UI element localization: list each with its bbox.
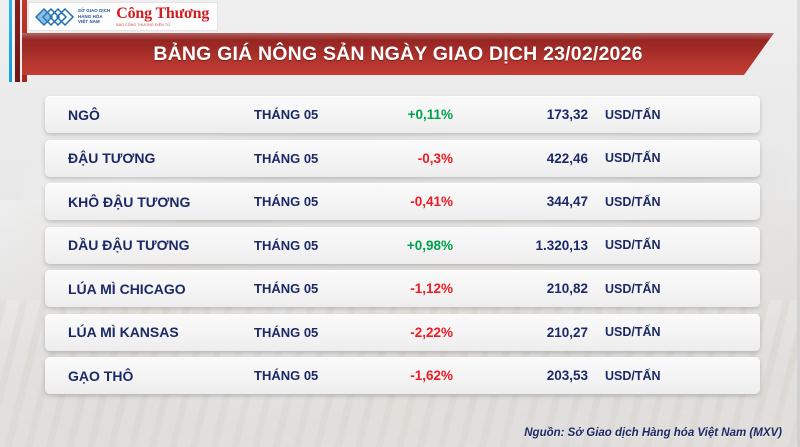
table-row[interactable]: LÚA MÌ KANSASTHÁNG 05-2,22%210,27USD/TẤN (45, 314, 760, 351)
table-row[interactable]: NGÔTHÁNG 05+0,11%173,32USD/TẤN (45, 96, 760, 133)
table-row[interactable]: KHÔ ĐẬU TƯƠNGTHÁNG 05-0,41%344,47USD/TẤN (45, 183, 760, 220)
price-unit: USD/TẤN (605, 238, 661, 252)
commodity-name: KHÔ ĐẬU TƯƠNG (68, 194, 190, 210)
page-title: BẢNG GIÁ NÔNG SẢN NGÀY GIAO DỊCH 23/02/2… (22, 33, 774, 75)
change-percent: +0,98% (345, 238, 453, 253)
price-value: 1.320,13 (475, 238, 588, 253)
contract-month: THÁNG 05 (254, 238, 318, 253)
source-note: Nguồn: Sở Giao dịch Hàng hóa Việt Nam (M… (524, 427, 782, 439)
logo-bar: SỞ GIAO DỊCH HÀNG HÓA VIỆT NAM Công Thươ… (28, 2, 218, 31)
commodity-name: ĐẬU TƯƠNG (68, 150, 155, 166)
cong-thuong-wordmark: Công Thương (116, 6, 209, 22)
contract-month: THÁNG 05 (254, 194, 318, 209)
mxv-logo-text: SỞ GIAO DỊCH HÀNG HÓA VIỆT NAM (78, 8, 110, 25)
commodity-name: DẦU ĐẬU TƯƠNG (68, 237, 190, 253)
price-unit: USD/TẤN (605, 195, 661, 209)
price-value: 344,47 (475, 194, 588, 209)
change-percent: -0,3% (345, 151, 453, 166)
price-value: 210,27 (475, 325, 588, 340)
commodity-name: GẠO THÔ (68, 368, 133, 384)
table-row[interactable]: GẠO THÔTHÁNG 05-1,62%203,53USD/TẤN (45, 357, 760, 394)
commodity-name: NGÔ (68, 107, 100, 123)
price-value: 422,46 (475, 151, 588, 166)
change-percent: -2,22% (345, 325, 453, 340)
contract-month: THÁNG 05 (254, 325, 318, 340)
price-unit: USD/TẤN (605, 282, 661, 296)
page-header: SỞ GIAO DỊCH HÀNG HÓA VIỆT NAM Công Thươ… (0, 0, 800, 86)
price-value: 173,32 (475, 107, 588, 122)
cong-thuong-subtitle: BÁO CÔNG THƯƠNG ĐIỆN TỬ (116, 23, 209, 27)
price-unit: USD/TẤN (605, 108, 661, 122)
price-unit: USD/TẤN (605, 151, 661, 165)
commodity-name: LÚA MÌ CHICAGO (68, 281, 186, 297)
table-row[interactable]: DẦU ĐẬU TƯƠNGTHÁNG 05+0,98%1.320,13USD/T… (45, 227, 760, 264)
price-value: 203,53 (475, 368, 588, 383)
change-percent: -1,62% (345, 368, 453, 383)
mxv-logo-line-1: SỞ GIAO DỊCH (78, 8, 110, 14)
mxv-chevron-diamond-icon (33, 6, 75, 28)
cong-thuong-logo: Công Thương BÁO CÔNG THƯƠNG ĐIỆN TỬ (116, 6, 209, 27)
contract-month: THÁNG 05 (254, 151, 318, 166)
price-unit: USD/TẤN (605, 325, 661, 339)
contract-month: THÁNG 05 (254, 281, 318, 296)
price-unit: USD/TẤN (605, 369, 661, 383)
change-percent: -0,41% (345, 194, 453, 209)
commodity-name: LÚA MÌ KANSAS (68, 324, 179, 340)
contract-month: THÁNG 05 (254, 107, 318, 122)
mxv-logo-line-3: VIỆT NAM (78, 19, 110, 25)
table-row[interactable]: ĐẬU TƯƠNGTHÁNG 05-0,3%422,46USD/TẤN (45, 140, 760, 177)
contract-month: THÁNG 05 (254, 368, 318, 383)
price-value: 210,82 (475, 281, 588, 296)
change-percent: -1,12% (345, 281, 453, 296)
price-table: NGÔTHÁNG 05+0,11%173,32USD/TẤNĐẬU TƯƠNGT… (45, 96, 760, 401)
change-percent: +0,11% (345, 107, 453, 122)
table-row[interactable]: LÚA MÌ CHICAGOTHÁNG 05-1,12%210,82USD/TẤ… (45, 270, 760, 307)
